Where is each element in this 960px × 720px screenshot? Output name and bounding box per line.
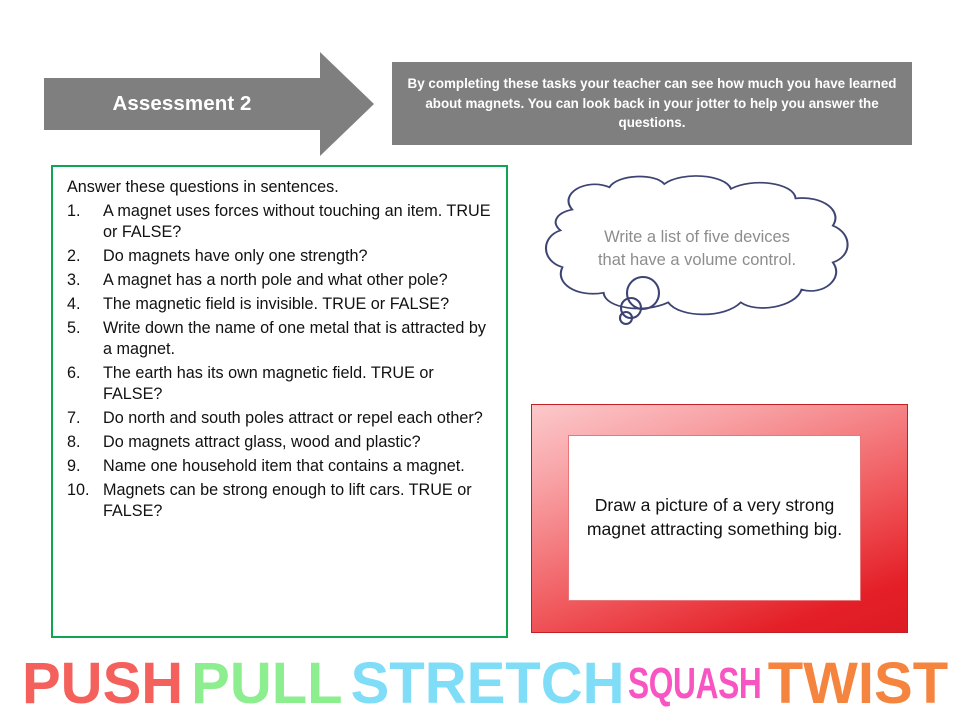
word-twist: TWIST <box>768 655 948 713</box>
list-item: Do north and south poles attract or repe… <box>67 408 494 429</box>
list-item: Name one household item that contains a … <box>67 456 494 477</box>
instructions-text: By completing these tasks your teacher c… <box>406 74 898 132</box>
list-item: The earth has its own magnetic field. TR… <box>67 363 494 405</box>
list-item: A magnet has a north pole and what other… <box>67 270 494 291</box>
draw-task-text: Draw a picture of a very strong magnet a… <box>579 494 850 542</box>
questions-intro: Answer these questions in sentences. <box>67 177 494 199</box>
draw-task-inner-panel: Draw a picture of a very strong magnet a… <box>568 435 861 601</box>
worksheet-page: Assessment 2 By completing these tasks y… <box>0 0 960 720</box>
assessment-title: Assessment 2 <box>44 52 316 156</box>
thought-cloud-icon <box>527 168 927 388</box>
list-item: The magnetic field is invisible. TRUE or… <box>67 294 494 315</box>
list-item: Magnets can be strong enough to lift car… <box>67 480 494 522</box>
questions-list: A magnet uses forces without touching an… <box>65 201 494 523</box>
assessment-arrow-banner: Assessment 2 <box>44 52 374 156</box>
thought-cloud-text: Write a list of five devices that have a… <box>597 226 797 273</box>
thought-cloud: Write a list of five devices that have a… <box>527 168 927 388</box>
word-pull: PULL <box>191 655 342 713</box>
questions-panel: Answer these questions in sentences. A m… <box>51 165 508 638</box>
word-stretch: STRETCH <box>351 655 625 713</box>
list-item: Write down the name of one metal that is… <box>67 318 494 360</box>
list-item: Do magnets have only one strength? <box>67 246 494 267</box>
list-item: Do magnets attract glass, wood and plast… <box>67 432 494 453</box>
draw-task-box: Draw a picture of a very strong magnet a… <box>531 404 908 633</box>
list-item: A magnet uses forces without touching an… <box>67 201 494 243</box>
instructions-box: By completing these tasks your teacher c… <box>392 62 912 145</box>
word-push: PUSH <box>22 655 183 713</box>
forces-word-banner: PUSH PULL STRETCH SQUASH TWIST C <box>0 648 960 720</box>
word-squash: SQUASH <box>628 662 761 706</box>
